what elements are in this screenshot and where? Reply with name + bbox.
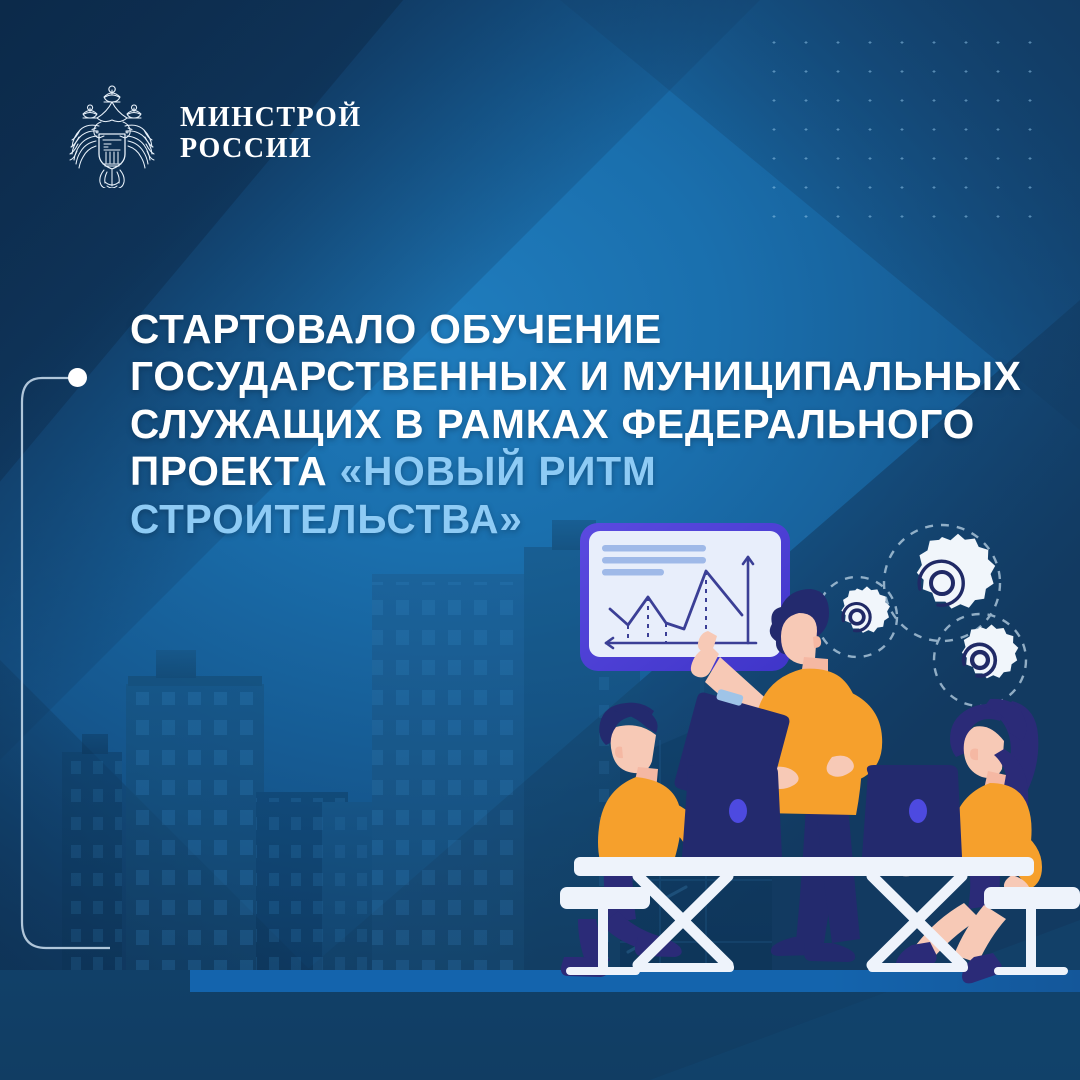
presentation-whiteboard	[580, 523, 790, 671]
gear-small-left	[841, 586, 890, 632]
team-training-illustration	[560, 505, 1080, 1005]
bullet-dot	[68, 368, 87, 387]
dot-grid-pattern	[758, 28, 1058, 238]
gear-large	[916, 534, 995, 609]
gear-medium-bottom	[962, 625, 1018, 679]
left-bracket-line	[0, 300, 110, 1000]
poster-canvas: МИНСТРОЙ РОССИИ СТАРТОВАЛО ОБУЧЕНИЕ ГОСУ…	[0, 0, 1080, 1080]
ministry-logo-text: МИНСТРОЙ РОССИИ	[180, 102, 362, 165]
gears-group	[817, 525, 1026, 706]
logo-line-1: МИНСТРОЙ	[180, 102, 362, 133]
ministry-logo: МИНСТРОЙ РОССИИ	[66, 78, 362, 188]
russian-coat-of-arms-icon	[66, 78, 158, 188]
logo-line-2: РОССИИ	[180, 133, 362, 164]
